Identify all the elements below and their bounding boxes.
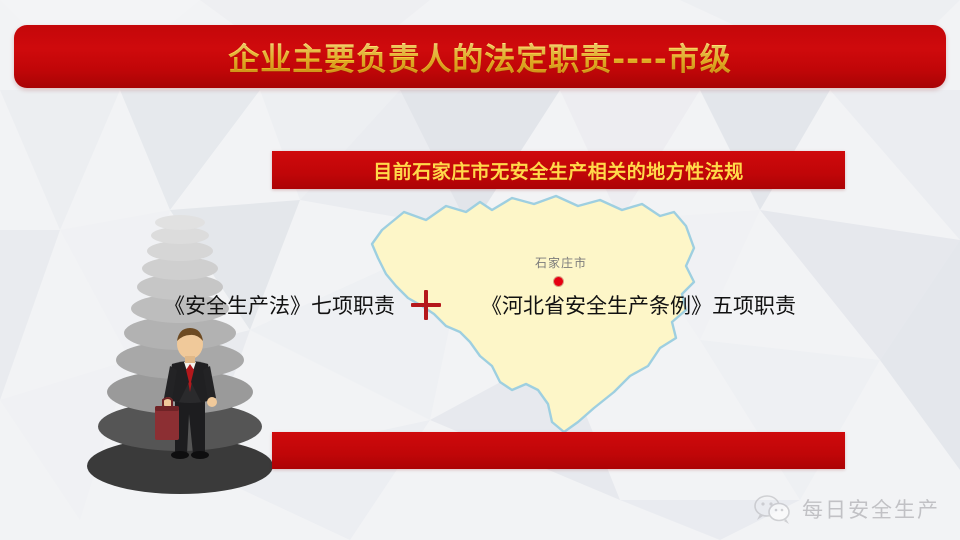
wechat-icon — [754, 494, 792, 524]
slide-title-text: 企业主要负责人的法定职责----市级 — [228, 34, 731, 79]
sub-banner-text: 目前石家庄市无安全生产相关的地方性法规 — [373, 157, 744, 184]
watermark: 每日安全生产 — [754, 494, 940, 524]
presentation-slide: 石家庄市 企业主要负责人的法定职责----市级 目前石家庄市无安全生产相关的地方… — [0, 0, 960, 540]
map-city-marker-dot — [554, 277, 563, 286]
map-container: 石家庄市 — [342, 186, 712, 441]
slide-title-bar: 企业主要负责人的法定职责----市级 — [14, 25, 946, 88]
shijiazhuang-map-shape — [342, 186, 712, 441]
map-city-label: 石家庄市 — [535, 254, 587, 271]
watermark-text: 每日安全生产 — [802, 494, 940, 524]
sub-banner: 目前石家庄市无安全生产相关的地方性法规 — [272, 151, 845, 189]
businessman-figure-icon — [139, 322, 243, 462]
bottom-red-bar — [272, 432, 845, 469]
